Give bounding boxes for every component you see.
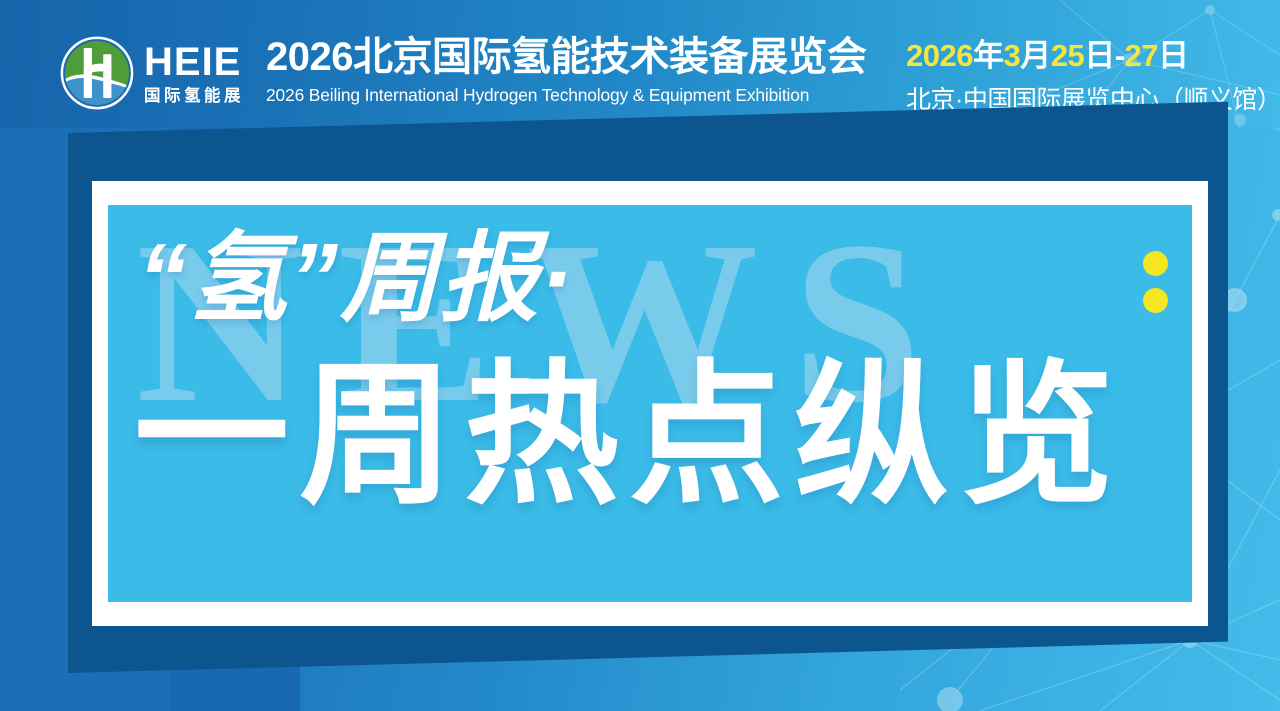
dot-icon-2 <box>1143 288 1168 313</box>
date-month: 3 <box>1003 38 1020 73</box>
brand-logo[interactable]: HEIE 国际氢能展 <box>58 31 248 115</box>
date-year: 2026 <box>906 38 973 73</box>
date-day-unit: 日 <box>1084 38 1115 73</box>
headline-line-2: 一周热点纵览 <box>134 358 1124 513</box>
date-dash: - <box>1115 38 1125 73</box>
brand-name-cn: 国际氢能展 <box>144 88 246 105</box>
card-inner-panel: NEWS “氢”周报· 一周热点纵览 <box>108 205 1192 602</box>
date-month-unit: 月 <box>1020 38 1051 73</box>
date-day-end-unit: 日 <box>1158 38 1189 73</box>
brand-name: HEIE <box>144 42 246 82</box>
exhibition-date: 2026年3月25日-27日 <box>906 40 1256 73</box>
heie-circle-logo-icon <box>58 34 136 112</box>
dot-icon-1 <box>1143 251 1168 276</box>
headline-line-1: “氢”周报· <box>138 225 575 333</box>
exhibition-title-block: 2026北京国际氢能技术装备展览会 2026 Beiling Internati… <box>266 36 902 106</box>
decorative-dots <box>1143 251 1168 313</box>
exhibition-title-cn: 2026北京国际氢能技术装备展览会 <box>266 36 902 78</box>
date-day-end: 27 <box>1125 38 1158 73</box>
date-year-unit: 年 <box>973 38 1004 73</box>
banner-root: HEIE 国际氢能展 2026北京国际氢能技术装备展览会 2026 Beilin… <box>0 0 1280 711</box>
date-day-start: 25 <box>1051 38 1084 73</box>
exhibition-title-en: 2026 Beiling International Hydrogen Tech… <box>266 85 902 106</box>
